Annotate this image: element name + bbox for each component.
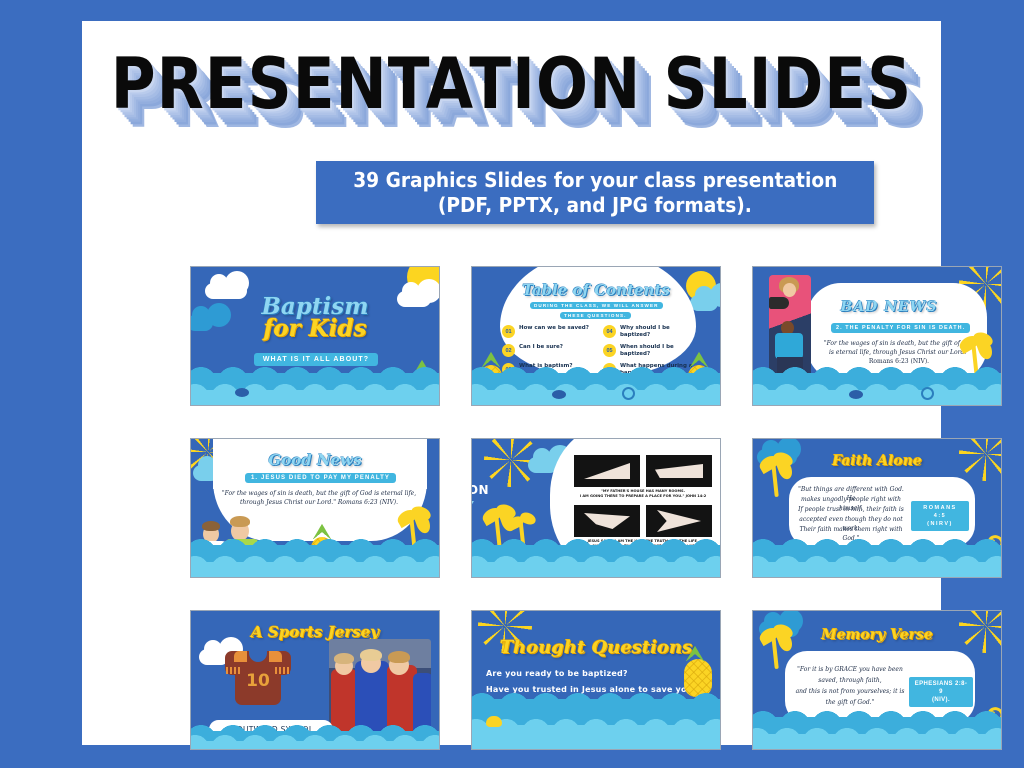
turtle-icon (552, 390, 566, 399)
badge-line-1: ROMANS 4:5 (923, 505, 956, 519)
toc-number: 02 (502, 344, 515, 357)
slide-thumbnail-good-news[interactable]: Good News 1. JESUS DIED TO PAY MY PENALT… (190, 438, 440, 578)
page-title: PRESENTATION SLIDES (73, 43, 949, 126)
crab-icon (486, 716, 502, 727)
subtitle-line-1: 39 Graphics Slides for your class presen… (353, 168, 837, 193)
toc-number: 04 (603, 325, 616, 338)
photo-paper-plane-3 (574, 505, 640, 537)
photo-caption-1-line-2: I AM GOING THERE TO PREPARE A PLACE FOR … (570, 494, 716, 499)
water-decoration (753, 734, 1001, 749)
slide-title: Faith Alone (753, 453, 1001, 469)
verse-reference-badge: EPHESIANS 2:8-9 (NIV). (909, 677, 973, 707)
water-decoration (191, 562, 439, 577)
slide-title: Good News (191, 451, 439, 469)
water-decoration (472, 725, 720, 749)
turtle-icon (849, 390, 863, 399)
list-item[interactable]: 04 Why should I be baptized? (603, 325, 698, 339)
toc-number: 05 (603, 344, 616, 357)
slide-title-line-2: for Kids (191, 315, 439, 342)
slide-thumbnail-table-of-contents[interactable]: Table of Contents DURING THE CLASS, WE W… (471, 266, 721, 406)
slide-thumbnail-a-sports-jersey[interactable]: A Sports Jersey 10 (190, 610, 440, 750)
slide-thumbnail-bad-news[interactable]: BAD NEWS 2. THE PENALTY FOR SIN IS DEATH… (752, 266, 1002, 406)
slide-pill-label: 1. JESUS DIED TO PAY MY PENALTY (245, 473, 396, 483)
subtitle-line-2: (PDF, PPTX, and JPG formats). (438, 193, 752, 218)
verse-line-3: and this is not from yourselves; it is (785, 687, 915, 696)
white-page-panel: PRESENTATION SLIDES 39 Graphics Slides f… (82, 21, 941, 745)
verse-line-2: through Jesus Christ our Lord." Romans 6… (221, 498, 417, 507)
slide-title-line-1: SALVATION (471, 483, 574, 497)
jersey-number: 10 (227, 671, 289, 691)
photo-paper-plane-1 (574, 455, 640, 487)
slide-title: BAD NEWS (789, 299, 989, 315)
toc-label: How can we be saved? (519, 325, 589, 332)
verse-line-3: If people trust in him, their faith is (795, 505, 907, 514)
photo-paper-plane-2 (646, 455, 712, 487)
list-item[interactable]: 05 When should I be baptized? (603, 344, 698, 358)
toc-label: Why should I be baptized? (620, 325, 698, 339)
verse-reference-badge: ROMANS 4:5 (NIRV) (911, 501, 969, 531)
slide-title: Thought Questions (472, 637, 720, 658)
list-item[interactable]: 02 Can I be sure? (502, 344, 597, 358)
jersey-graphic: 10 (227, 645, 289, 707)
slide-title: Memory Verse (753, 627, 1001, 643)
slide-subtitle-line-1: DURING THE CLASS, WE WILL ANSWER (530, 302, 663, 309)
toc-number: 01 (502, 325, 515, 338)
slide-thumbnail-memory-verse[interactable]: Memory Verse "For it is by GRACE you hav… (752, 610, 1002, 750)
badge-line-2: (NIV). (932, 697, 950, 703)
water-decoration (753, 562, 1001, 577)
verse-line-1: "For the wages of sin is death, but the … (221, 489, 417, 498)
badge-line-1: EPHESIANS 2:8-9 (915, 681, 968, 695)
verse-line-2: saved, through faith, (791, 676, 909, 685)
turtle-icon (235, 388, 249, 397)
slide-thumbnail-faith-alone[interactable]: Faith Alone "But things are different wi… (752, 438, 1002, 578)
verse-line-1: "For it is by GRACE you have been (791, 665, 909, 674)
question-1: Are you ready to be baptized? (486, 669, 628, 678)
list-item[interactable]: 01 How can we be saved? (502, 325, 597, 339)
slide-title: Table of Contents (472, 281, 720, 299)
verse-line-4: the gift of God." (791, 698, 909, 707)
toc-label: Can I be sure? (519, 344, 563, 351)
slide-subtitle-line-2: THESE QUESTIONS. (560, 312, 631, 319)
slide-thumbnail-baptism-for-kids[interactable]: Baptism for Kids WHAT IS IT ALL ABOUT? (190, 266, 440, 406)
water-decoration (191, 390, 439, 405)
slide-thumbnail-thought-questions[interactable]: Thought Questions Are you ready to be ba… (471, 610, 721, 750)
slide-thumbnail-salvation-activity[interactable]: SALVATION Activity "MY FATHER'S HOUSE HA… (471, 438, 721, 578)
subtitle-banner: 39 Graphics Slides for your class presen… (316, 161, 874, 224)
photo-paper-plane-4 (646, 505, 712, 537)
slide-thumbnail-grid: Baptism for Kids WHAT IS IT ALL ABOUT? T… (190, 266, 1002, 750)
slide-pill-label: 2. THE PENALTY FOR SIN IS DEATH. (831, 323, 970, 333)
shell-icon (622, 387, 635, 400)
badge-line-2: (NIRV) (927, 521, 953, 527)
water-decoration (191, 741, 439, 749)
water-decoration (753, 390, 1001, 405)
water-decoration (472, 562, 720, 577)
shell-icon (921, 387, 934, 400)
toc-label: When should I be baptized? (620, 344, 698, 358)
water-decoration (472, 390, 720, 405)
